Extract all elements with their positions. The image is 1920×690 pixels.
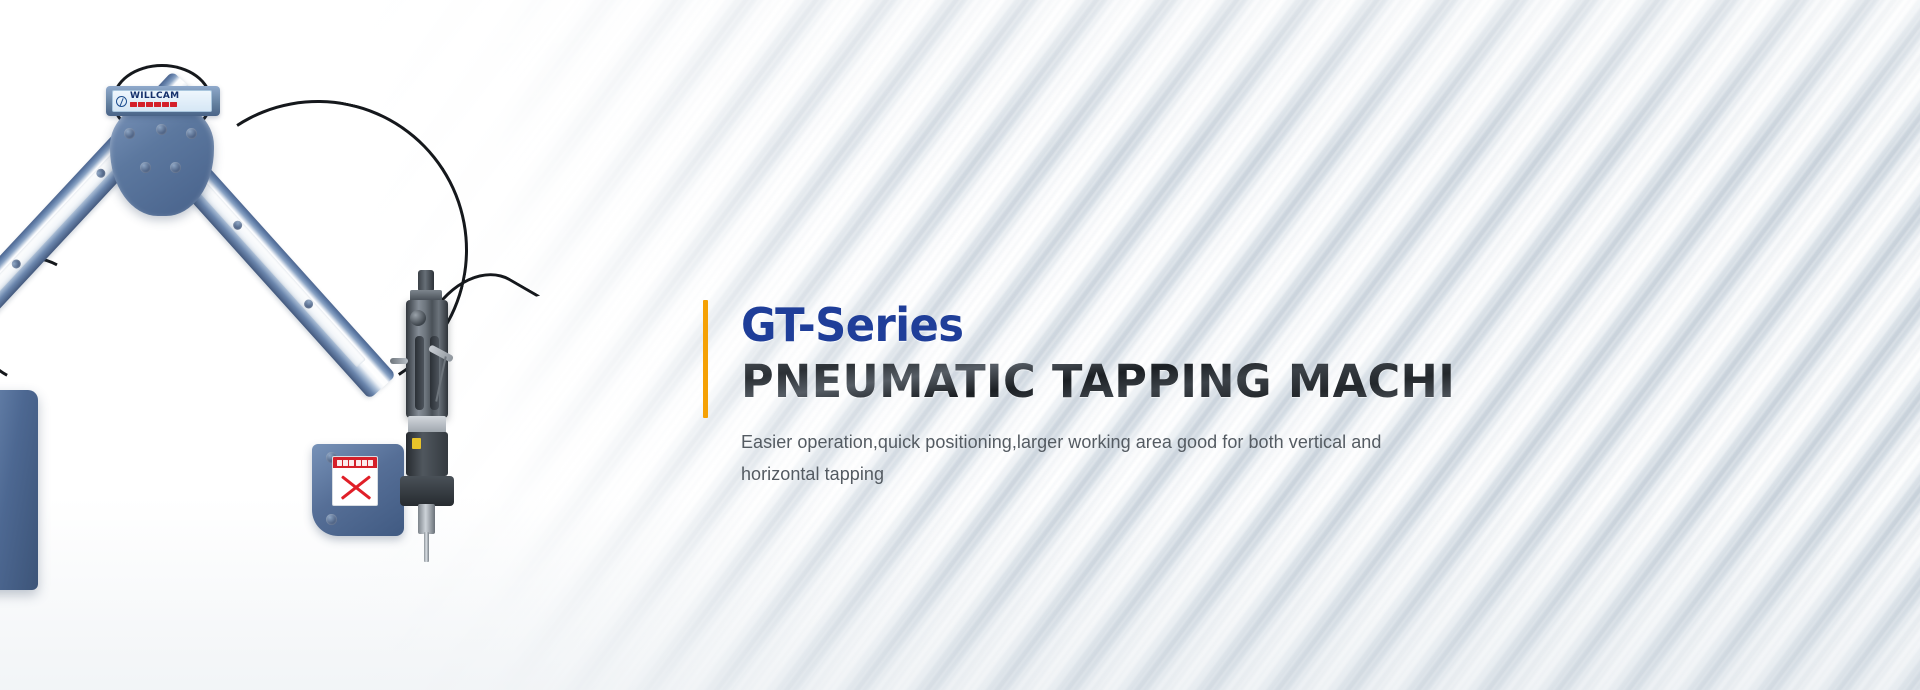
pivot-bolt [156,124,167,135]
spindle-knob [410,310,426,326]
page-description: Easier operation,quick positioning,large… [741,426,1421,490]
brand-nameplate: WILLCAM [112,90,212,112]
warning-sticker-header [333,457,377,468]
warning-sticker [332,456,378,506]
brand-chinese-text [130,102,179,107]
spindle-side-pin [390,358,408,364]
spindle-top-fitting [418,270,434,292]
red-x-icon [333,468,377,506]
brand-name: WILLCAM [130,92,179,101]
brand-subtext [130,107,179,111]
spindle-yellow-label [412,438,421,449]
accent-bar [703,300,708,418]
tapping-spindle-head [400,270,454,570]
pivot-bolt [186,128,197,139]
brand-logo-icon [116,96,127,107]
spindle-chuck [418,504,435,534]
product-hero-banner: WILLCAM G [0,0,1920,690]
spindle-tap-tip [424,532,429,562]
page-title: GT-Series [741,300,1420,350]
pivot-bolt [140,162,151,173]
machine-base-column [0,390,38,590]
pivot-bolt [124,128,135,139]
pivot-bolt [170,162,181,173]
joint-bolt [326,514,337,525]
spindle-clamp [400,476,454,506]
product-image: WILLCAM [0,60,520,620]
banner-copy-block: GT-Series PNEUMATIC TAPPING MACHINE Easi… [703,300,1463,490]
page-subtitle: PNEUMATIC TAPPING MACHINE [741,354,1456,410]
